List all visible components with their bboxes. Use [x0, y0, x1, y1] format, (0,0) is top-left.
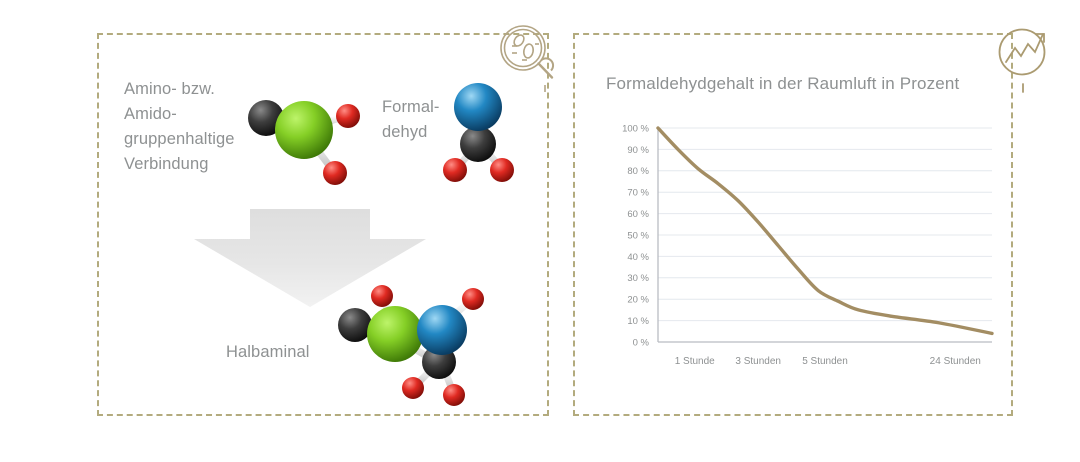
svg-text:70 %: 70 % [627, 188, 649, 199]
svg-text:20 %: 20 % [627, 295, 649, 306]
series-line-formaldehyde [658, 128, 992, 333]
svg-text:90 %: 90 % [627, 145, 649, 156]
svg-text:50 %: 50 % [627, 230, 649, 241]
svg-text:0 %: 0 % [633, 337, 650, 348]
svg-text:60 %: 60 % [627, 209, 649, 220]
svg-text:10 %: 10 % [627, 316, 649, 327]
x-axis-ticks: 1 Stunde3 Stunden5 Stunden24 Stunden [675, 356, 981, 367]
svg-text:1 Stunde: 1 Stunde [675, 356, 715, 367]
svg-text:100 %: 100 % [622, 123, 649, 134]
slide-canvas: Amino- bzw. Amido- gruppenhaltige Verbin… [0, 0, 1080, 462]
svg-text:40 %: 40 % [627, 252, 649, 263]
halbaminal-molecule [327, 280, 503, 406]
magnifier-molecule-icon [497, 22, 563, 94]
svg-text:5 Stunden: 5 Stunden [802, 356, 848, 367]
trend-chart-icon [990, 22, 1056, 94]
svg-text:30 %: 30 % [627, 273, 649, 284]
reaction-diagram-panel: Amino- bzw. Amido- gruppenhaltige Verbin… [97, 33, 549, 416]
formaldehyde-line-chart: 100 %90 %80 %70 %60 %50 %40 %30 %20 %10 … [596, 112, 996, 377]
svg-text:3 Stunden: 3 Stunden [735, 356, 781, 367]
chart-gridlines [658, 128, 992, 342]
svg-text:80 %: 80 % [627, 166, 649, 177]
amine-compound-molecule [236, 80, 366, 190]
chart-title: Formaldehydgehalt in der Raumluft in Pro… [606, 74, 959, 94]
y-axis-ticks: 100 %90 %80 %70 %60 %50 %40 %30 %20 %10 … [622, 123, 649, 348]
svg-text:24 Stunden: 24 Stunden [930, 356, 981, 367]
